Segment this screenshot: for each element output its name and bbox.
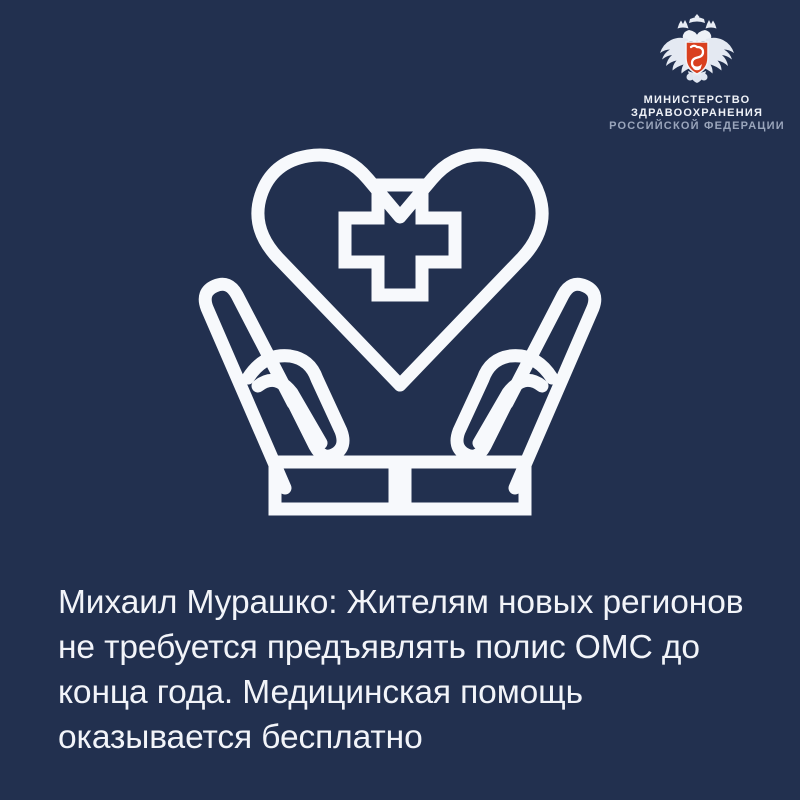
ministry-emblem-block: МИНИСТЕРСТВО ЗДРАВООХРАНЕНИЯ РОССИЙСКОЙ … (612, 12, 782, 133)
left-cuff (275, 462, 395, 509)
medical-cross-outline (345, 185, 455, 295)
emblem-caption: МИНИСТЕРСТВО ЗДРАВООХРАНЕНИЯ РОССИЙСКОЙ … (609, 94, 785, 133)
right-cuff (405, 462, 525, 509)
emblem-caption-line-1: МИНИСТЕРСТВО (609, 94, 785, 107)
emblem-caption-line-3: РОССИЙСКОЙ ФЕДЕРАЦИИ (609, 120, 785, 133)
poster-canvas: МИНИСТЕРСТВО ЗДРАВООХРАНЕНИЯ РОССИЙСКОЙ … (0, 0, 800, 800)
headline-text: Михаил Мурашко: Жителям новых регионов н… (58, 580, 764, 760)
hands-holding-heart-svg (185, 95, 615, 525)
hands-holding-heart-icon (185, 95, 615, 525)
double-headed-eagle-icon (657, 12, 737, 90)
emblem-caption-line-2: ЗДРАВООХРАНЕНИЯ (609, 107, 785, 120)
